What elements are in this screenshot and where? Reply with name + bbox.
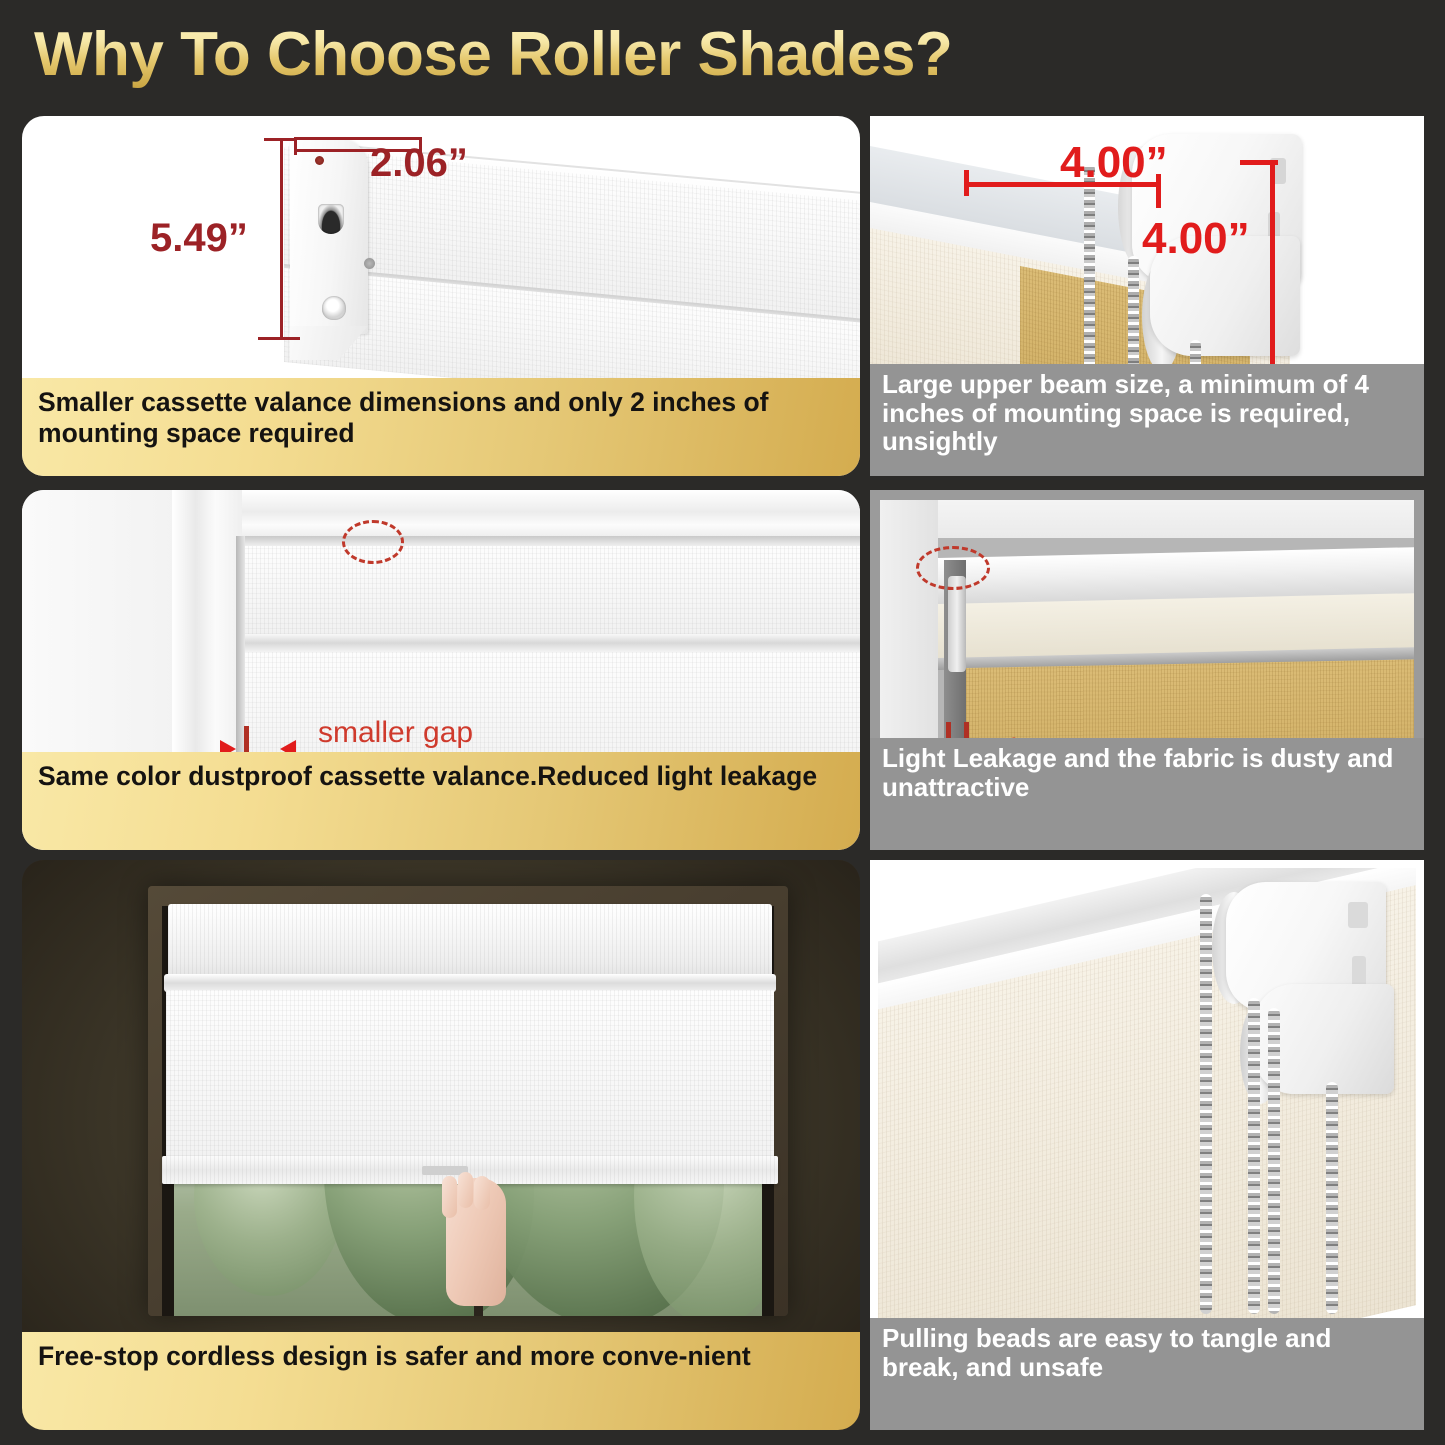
dimension-extension-line-top bbox=[294, 137, 422, 140]
dimension-label-width: 4.00” bbox=[1060, 138, 1168, 188]
roller-mechanism bbox=[948, 576, 966, 672]
panel-pulling-beads: Pulling beads are easy to tangle and bre… bbox=[870, 860, 1424, 1430]
highlight-circle-annotation bbox=[916, 546, 990, 590]
screw-marker-icon bbox=[315, 156, 324, 165]
valance-head-rail bbox=[236, 536, 860, 546]
end-cap-pin-icon bbox=[322, 296, 346, 320]
screw-icon bbox=[364, 258, 375, 269]
comparison-grid: 2.06” 5.49” Smaller cassette valance dim… bbox=[0, 108, 1445, 1445]
bead-chain[interactable] bbox=[1200, 894, 1212, 1314]
panel-light-leakage: Large gap Light Leakage and the fabric i… bbox=[870, 490, 1424, 850]
bracket-slot-icon bbox=[1348, 902, 1368, 928]
highlight-circle-annotation bbox=[342, 520, 404, 564]
dimension-tick-left bbox=[964, 170, 969, 196]
window-casing-top bbox=[172, 490, 860, 536]
gap-indicator-line bbox=[964, 722, 969, 738]
page-header: Why To Choose Roller Shades? bbox=[0, 0, 1445, 108]
dimension-tick-top bbox=[264, 138, 296, 141]
dimension-label-width: 2.06” bbox=[370, 141, 468, 186]
panel-caption: Same color dustproof cassette valance.Re… bbox=[22, 752, 860, 850]
panel-large-upper-beam: 4.00” 4.00” Large upper beam size, a min… bbox=[870, 116, 1424, 476]
gap-indicator-line bbox=[946, 722, 951, 738]
panel-caption: Smaller cassette valance dimensions and … bbox=[22, 378, 860, 476]
valance-bottom-bar bbox=[236, 634, 860, 652]
shade-fabric-upper bbox=[240, 546, 860, 634]
dimension-line-height bbox=[1270, 160, 1275, 375]
shade-fabric bbox=[166, 990, 774, 1176]
bead-chain[interactable] bbox=[1326, 1082, 1338, 1314]
panel-caption: Free-stop cordless design is safer and m… bbox=[22, 1332, 860, 1430]
photo-inner-frame bbox=[878, 868, 1416, 1318]
panel-dustproof-cassette-valance: smaller gap Same color dustproof cassett… bbox=[22, 490, 860, 850]
finger bbox=[442, 1176, 457, 1218]
gap-label: smaller gap bbox=[318, 716, 473, 750]
panel-free-stop-cordless: Free-stop cordless design is safer and m… bbox=[22, 860, 860, 1430]
panel-caption: Pulling beads are easy to tangle and bre… bbox=[870, 1318, 1424, 1430]
panel-caption: Large upper beam size, a minimum of 4 in… bbox=[870, 364, 1424, 476]
ceiling-surface bbox=[880, 500, 1414, 538]
photo-inner-frame: Large gap bbox=[880, 500, 1414, 738]
dimension-tick-top bbox=[1240, 160, 1278, 165]
dusty-shade-fabric bbox=[966, 659, 1414, 738]
wall-surface bbox=[880, 500, 938, 738]
dimension-label-height: 4.00” bbox=[1142, 214, 1250, 264]
dimension-line-height bbox=[280, 138, 283, 340]
bead-chain[interactable] bbox=[1268, 1008, 1280, 1314]
dimension-label-height: 5.49” bbox=[150, 216, 248, 261]
finger bbox=[458, 1172, 473, 1208]
dimension-tick-bottom bbox=[258, 337, 300, 340]
page-title: Why To Choose Roller Shades? bbox=[34, 19, 952, 90]
finger bbox=[474, 1176, 490, 1210]
panel-caption: Light Leakage and the fabric is dusty an… bbox=[870, 738, 1424, 850]
panel-cassette-valance-dimensions: 2.06” 5.49” Smaller cassette valance dim… bbox=[22, 116, 860, 476]
cassette-valance bbox=[168, 904, 772, 980]
bead-chain[interactable] bbox=[1248, 998, 1260, 1314]
end-cap-slot-icon bbox=[318, 204, 344, 234]
